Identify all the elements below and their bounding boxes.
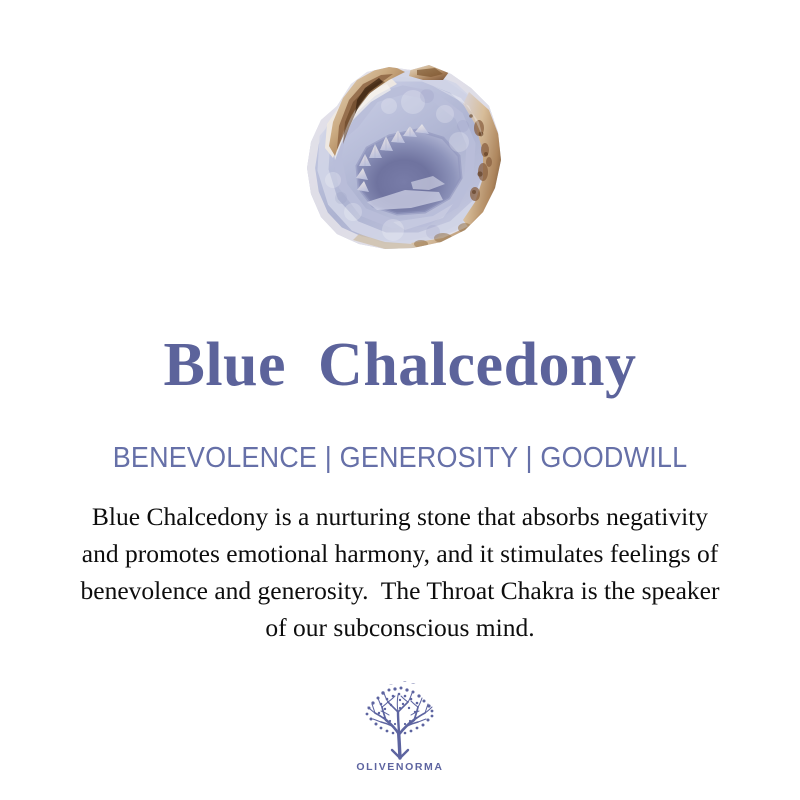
tree-of-life-icon xyxy=(359,680,441,760)
description-line: Blue Chalcedony is a nurturing stone tha… xyxy=(20,498,780,535)
keyword-line: BENEVOLENCE | GENEROSITY | GOODWILL xyxy=(28,442,772,475)
description-line: benevolence and generosity. The Throat C… xyxy=(20,572,780,609)
description-line: of our subconscious mind. xyxy=(20,609,780,646)
brand-logo: OLIVENORMA xyxy=(0,680,800,773)
blue-chalcedony-geode-specimen-icon xyxy=(293,62,507,254)
brand-name: OLIVENORMA xyxy=(356,761,443,773)
description-text: Blue Chalcedony is a nurturing stone tha… xyxy=(20,498,780,646)
description-line: and promotes emotional harmony, and it s… xyxy=(20,535,780,572)
product-image-container xyxy=(0,58,800,258)
product-info-card: Blue Chalcedony BENEVOLENCE | GENEROSITY… xyxy=(0,0,800,800)
page-title: Blue Chalcedony xyxy=(0,333,800,399)
